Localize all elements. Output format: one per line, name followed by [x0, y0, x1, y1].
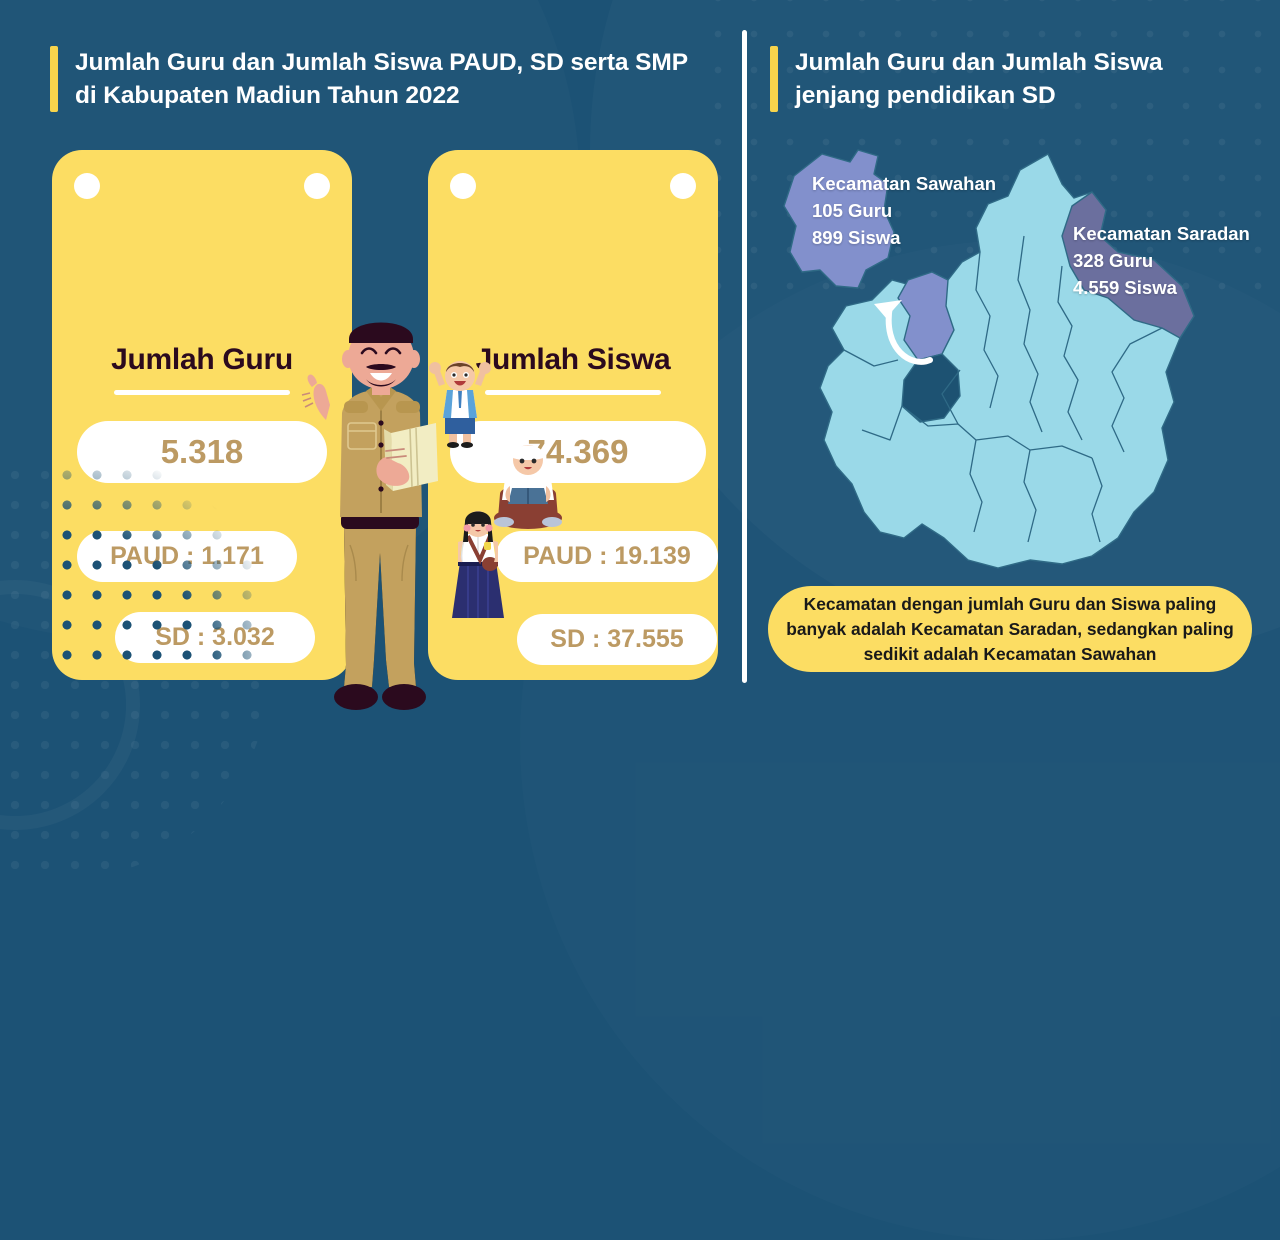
- guru-paud-value: PAUD : 1.171: [77, 531, 297, 582]
- header-accent-bar-right: [770, 46, 778, 112]
- callout-sawahan-name: Kecamatan Sawahan: [812, 170, 996, 197]
- map-summary-caption-box: Kecamatan dengan jumlah Guru dan Siswa p…: [768, 586, 1252, 672]
- callout-sawahan-siswa: 899 Siswa: [812, 224, 996, 251]
- callout-sawahan-guru: 105 Guru: [812, 197, 996, 224]
- callout-saradan-name: Kecamatan Saradan: [1073, 220, 1250, 247]
- right-panel-title: Jumlah Guru dan Jumlah Siswa jenjang pen…: [795, 46, 1240, 112]
- panel-divider: [742, 30, 747, 683]
- guru-sd-value: SD : 3.032: [115, 612, 315, 663]
- left-panel-header: Jumlah Guru dan Jumlah Siswa PAUD, SD se…: [50, 46, 710, 112]
- card-title-rule-siswa: [485, 390, 661, 395]
- left-panel-title: Jumlah Guru dan Jumlah Siswa PAUD, SD se…: [75, 46, 710, 112]
- callout-saradan-siswa: 4.559 Siswa: [1073, 274, 1250, 301]
- callout-saradan-guru: 328 Guru: [1073, 247, 1250, 274]
- card-title-rule-guru: [114, 390, 290, 395]
- header-accent-bar-left: [50, 46, 58, 112]
- siswa-paud-value: PAUD : 19.139: [496, 531, 718, 582]
- card-punch-hole-right: [304, 173, 330, 199]
- card-punch-hole-left: [450, 173, 476, 199]
- map-callout-sawahan: Kecamatan Sawahan 105 Guru 899 Siswa: [812, 170, 996, 251]
- right-panel-header: Jumlah Guru dan Jumlah Siswa jenjang pen…: [770, 46, 1240, 112]
- map-callout-saradan: Kecamatan Saradan 328 Guru 4.559 Siswa: [1073, 220, 1250, 301]
- siswa-sd-value: SD : 37.555: [517, 614, 717, 665]
- map-summary-caption-text: Kecamatan dengan jumlah Guru dan Siswa p…: [786, 592, 1234, 667]
- card-punch-hole-right: [670, 173, 696, 199]
- card-punch-hole-left: [74, 173, 100, 199]
- student-girl-smp-icon: [448, 508, 508, 626]
- student-boy-paud-icon: [427, 356, 493, 448]
